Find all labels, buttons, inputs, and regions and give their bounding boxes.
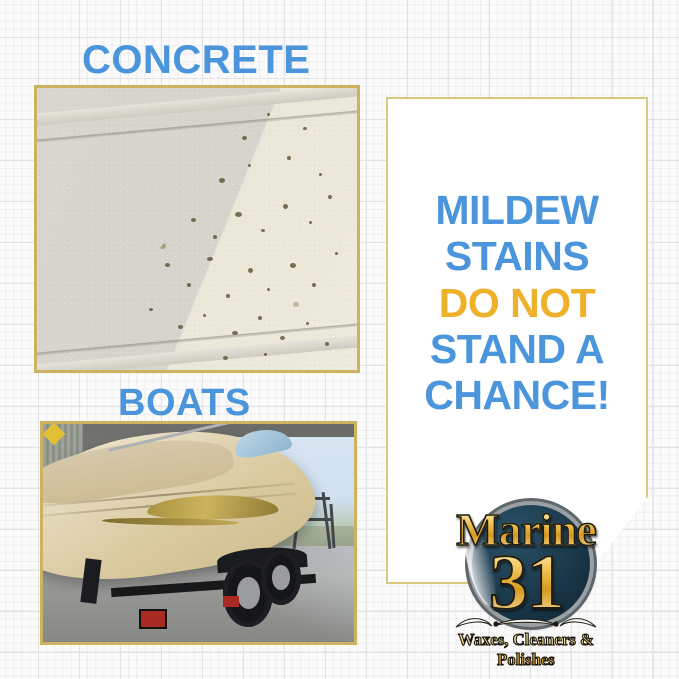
trailer-wheel-hub (237, 577, 260, 608)
headline-line-1: MILDEW (390, 187, 644, 233)
trailer-tire (261, 550, 301, 605)
trailer-wheel-hub (272, 565, 291, 590)
marine-31-logo: Marine 31 Waxes, Cleaners & Polishes (428, 497, 624, 659)
headline-line-5: CHANCE! (390, 372, 644, 418)
headline-line-2: STAINS (390, 233, 644, 279)
headline-text: MILDEW STAINS DO NOT STAND A CHANCE! (390, 187, 644, 419)
logo-number: 31 (428, 543, 624, 621)
logo-tagline: Waxes, Cleaners & Polishes (428, 630, 624, 670)
section-caption-boats: BOATS (118, 384, 251, 422)
garage-interior (43, 424, 354, 642)
photo-boat-on-trailer (40, 421, 357, 645)
trailer-taillight (139, 609, 167, 629)
boat-gold-accent-stripe (148, 495, 279, 519)
trailer-taillight (223, 596, 239, 607)
section-caption-concrete: CONCRETE (82, 40, 310, 80)
headline-line-3: DO NOT (390, 280, 644, 326)
headline-line-4: STAND A (390, 326, 644, 372)
advertisement-canvas: CONCRETE (0, 0, 679, 679)
photo-concrete-before-after (34, 85, 360, 373)
